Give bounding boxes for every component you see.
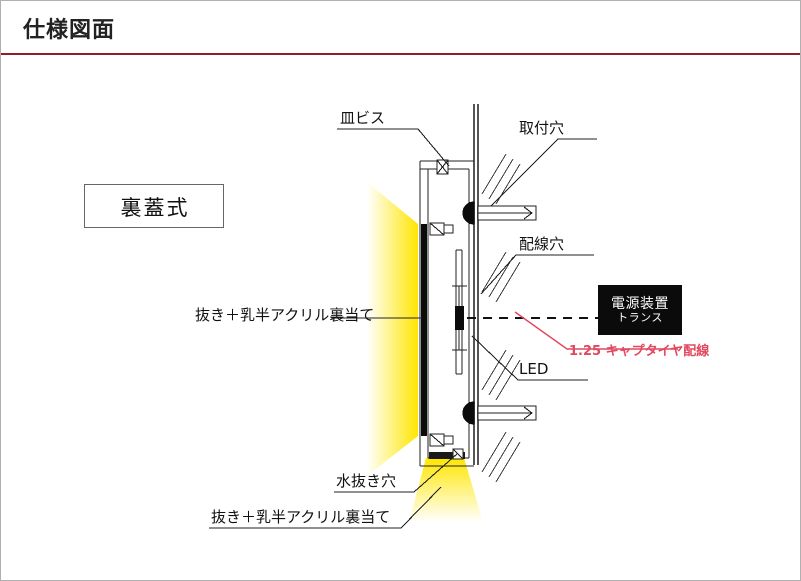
leader-mounting-hole (491, 139, 597, 206)
power-supply-box: 電源装置 トランス (598, 285, 682, 335)
spec-drawing-page: 仕様図面 (0, 0, 801, 581)
power-supply-title: 電源装置 (611, 296, 669, 312)
label-drain-hole: 水抜き穴 (336, 473, 396, 490)
label-flat-head-screw: 皿ビス (340, 110, 385, 127)
acrylic-face (421, 224, 427, 436)
led-clamp (455, 306, 464, 330)
anchor-head-lower (463, 402, 474, 424)
diagram-canvas: 裏蓋式 電源装置 トランス 皿ビス 取付穴 配線穴 抜き＋乳半アクリル裏当て L… (1, 54, 800, 580)
anchor-head-upper (463, 202, 474, 224)
leader-wiring-hole (481, 255, 594, 294)
type-box: 裏蓋式 (84, 184, 224, 228)
type-box-label: 裏蓋式 (85, 185, 225, 229)
label-mounting-hole: 取付穴 (519, 120, 564, 137)
page-title: 仕様図面 (23, 12, 115, 44)
label-led: LED (519, 361, 548, 378)
label-cabtyre-wiring: 1.25 キャプタイヤ配線 (569, 345, 709, 359)
label-wiring-hole: 配線穴 (519, 236, 564, 253)
label-acrylic-backing-bottom: 抜き＋乳半アクリル裏当て (211, 509, 390, 526)
page-header: 仕様図面 (1, 1, 800, 54)
power-supply-subtitle: トランス (617, 312, 663, 325)
label-acrylic-backing-middle: 抜き＋乳半アクリル裏当て (195, 307, 374, 324)
